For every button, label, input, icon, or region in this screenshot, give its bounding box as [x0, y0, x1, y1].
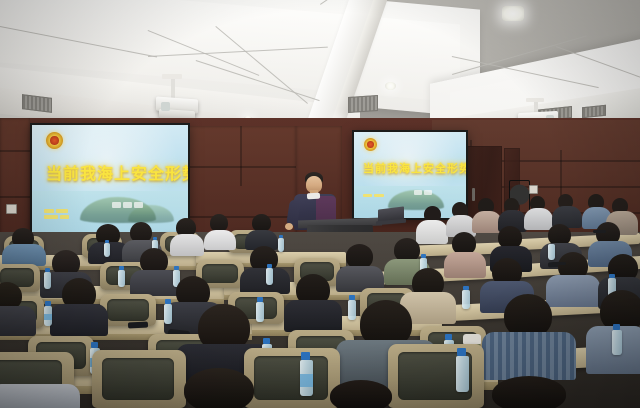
bottle-cap	[153, 237, 157, 240]
water-bottle[interactable]	[256, 302, 264, 322]
water-bottle[interactable]	[164, 304, 172, 324]
bottle-cap	[301, 352, 310, 360]
audience-person-body	[0, 306, 36, 336]
eyeglasses	[593, 230, 606, 233]
bottle-cap	[421, 254, 426, 258]
bottle-cap	[613, 324, 620, 330]
water-bottle[interactable]	[462, 290, 470, 309]
water-bottle[interactable]	[44, 272, 51, 289]
bottle-label	[300, 374, 313, 387]
thermos-cap[interactable]	[463, 334, 481, 344]
bottle-cap	[445, 334, 452, 340]
audience-person	[184, 368, 254, 408]
slide-title: 当前我海上安全形势	[46, 160, 188, 184]
audience-person-body	[204, 230, 236, 250]
audience-person-body	[546, 275, 600, 307]
ceiling-downlight	[502, 6, 524, 21]
water-bottle[interactable]	[348, 300, 356, 320]
audience-person-body	[284, 300, 342, 332]
door-handle[interactable]	[472, 188, 475, 201]
bottle-cap	[263, 338, 270, 344]
chair-pad	[254, 356, 328, 400]
slide-emblem-icon	[364, 138, 377, 151]
audience-person-body	[170, 234, 204, 256]
audience-person-body	[2, 244, 46, 266]
bottle-cap	[457, 348, 466, 356]
bottle-cap	[119, 266, 124, 270]
bottle-cap	[174, 266, 179, 270]
water-bottle[interactable]	[266, 268, 273, 285]
audience-person	[330, 380, 392, 408]
eyeglasses	[552, 262, 566, 265]
presenter-hand	[285, 223, 293, 230]
bottle-label	[44, 314, 52, 320]
water-bottle[interactable]	[456, 356, 469, 392]
water-bottle[interactable]	[278, 238, 284, 252]
presenter-collar	[307, 193, 320, 200]
bottle-cap	[609, 274, 615, 278]
projection-screen-right: 当前我海上安全形势	[352, 130, 468, 220]
air-vent	[348, 95, 378, 113]
bottle-cap	[45, 301, 51, 306]
chair-pad	[202, 264, 238, 283]
bottle-cap	[105, 240, 109, 243]
bottle-cap	[267, 264, 272, 268]
lecture-hall-photo: 当前我海上安全形势 当前我海上安全形势	[0, 0, 640, 408]
projection-screen-left: 当前我海上安全形势	[30, 123, 190, 237]
water-bottle[interactable]	[118, 270, 125, 287]
bottle-cap	[91, 342, 98, 348]
slide-emblem-icon	[46, 132, 63, 149]
audience-person-body	[416, 220, 448, 244]
audience-person-body	[524, 208, 553, 230]
bottle-cap	[257, 297, 263, 302]
mobile-phone[interactable]	[128, 321, 148, 328]
audience-person-body	[50, 304, 108, 336]
water-bottle[interactable]	[612, 330, 622, 355]
audience-person-body	[240, 268, 290, 294]
bottle-cap	[349, 295, 355, 300]
audience-person-body	[444, 252, 486, 278]
ceiling-downlight	[385, 82, 396, 90]
bottle-cap	[165, 299, 171, 304]
audience-person-body	[482, 332, 576, 380]
bottle-cap	[463, 286, 469, 290]
water-bottle[interactable]	[548, 244, 555, 260]
audience-person	[492, 376, 566, 408]
water-bottle[interactable]	[104, 243, 110, 257]
slide-title: 当前我海上安全形势	[363, 160, 466, 176]
chair-pad	[107, 299, 149, 321]
bottle-cap	[45, 268, 50, 272]
wall-switch-plate[interactable]	[529, 185, 538, 194]
chair-pad	[102, 358, 174, 400]
ceiling	[0, 0, 640, 128]
bottle-cap	[279, 235, 283, 238]
audience-person-body	[0, 384, 80, 408]
wall-switch-plate[interactable]	[6, 204, 17, 214]
